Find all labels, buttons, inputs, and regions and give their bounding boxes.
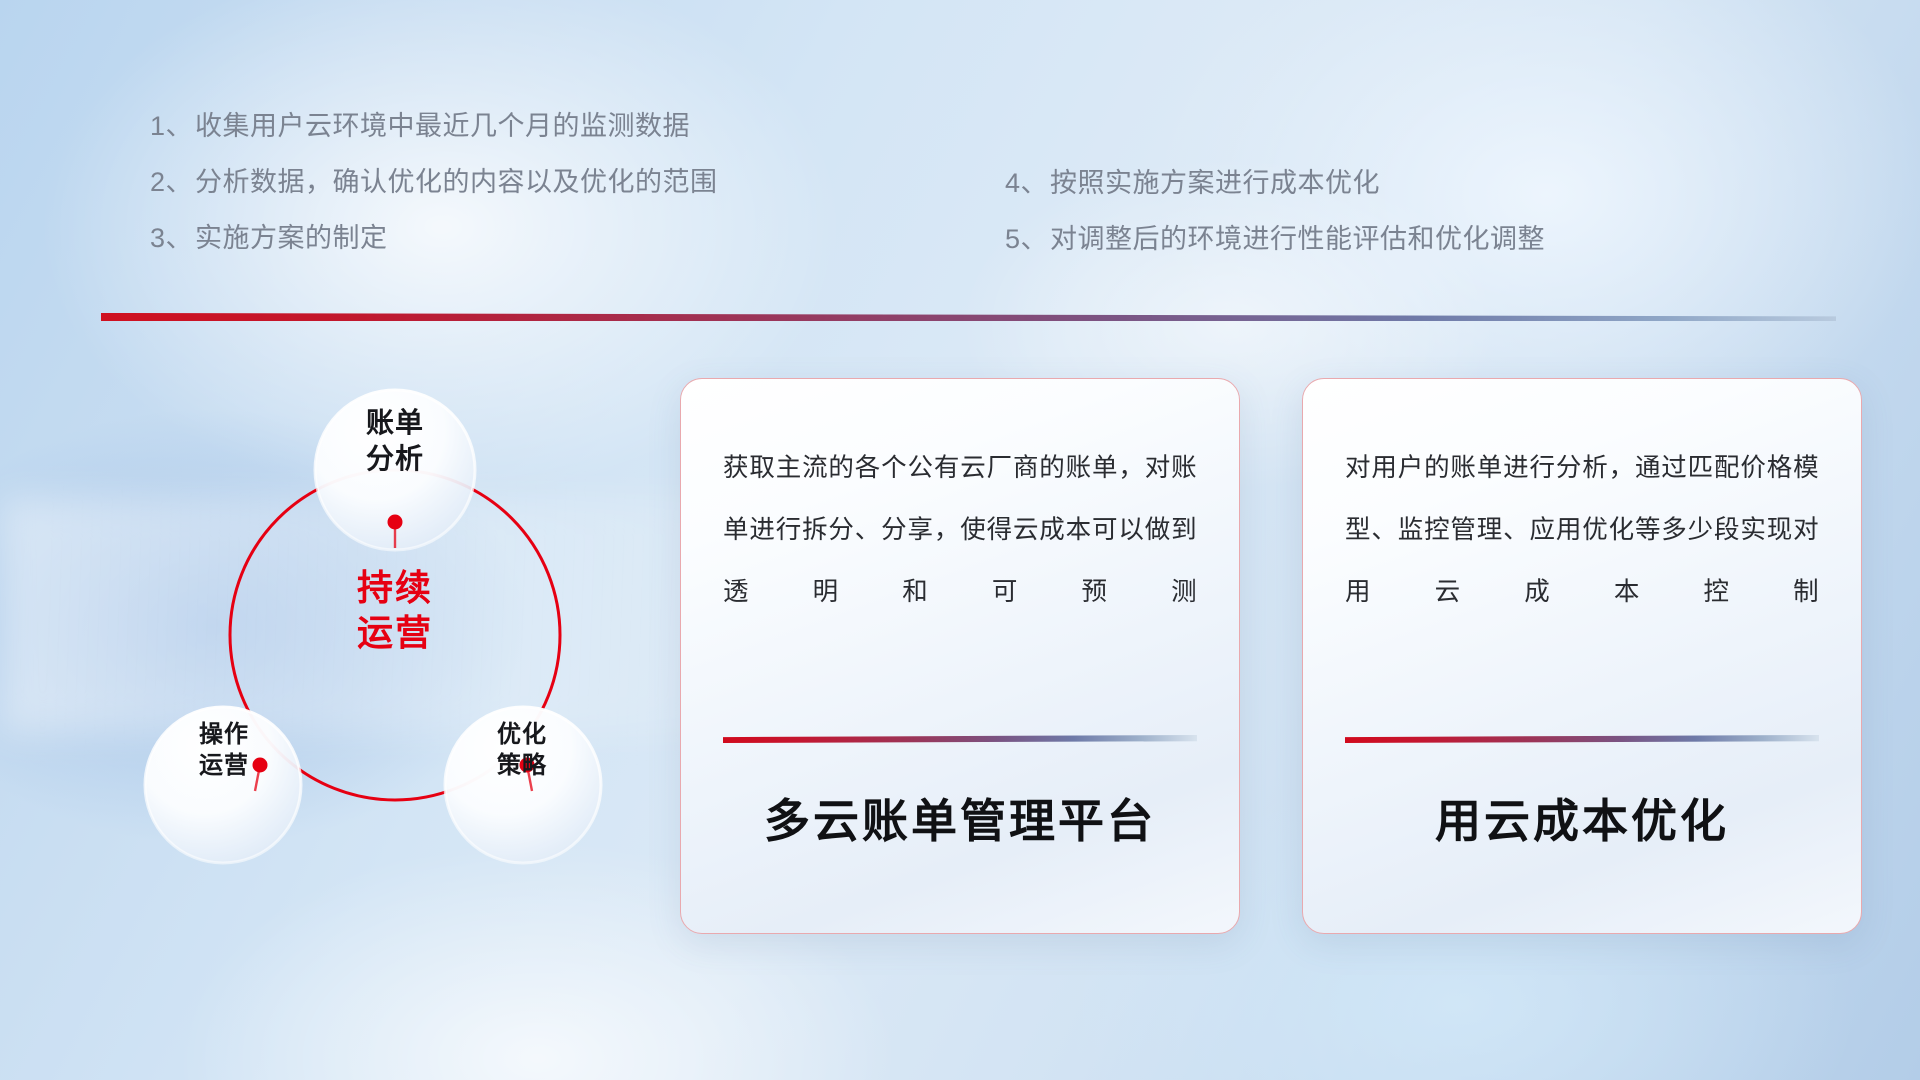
bubble-label-operation: 操作 运营 [149, 720, 299, 781]
section-divider-bar [101, 313, 1836, 321]
card-title: 多云账单管理平台 [681, 785, 1239, 851]
card-divider [1345, 735, 1819, 743]
step-number: 5、 [1005, 211, 1048, 267]
diagram-center-label: 持续 运营 [310, 565, 480, 655]
card-multi-cloud-bill-platform[interactable]: 获取主流的各个公有云厂商的账单，对账单进行拆分、分享，使得云成本可以做到透明和可… [680, 378, 1240, 934]
step-item: 5、 对调整后的环境进行性能评估和优化调整 [1005, 211, 1545, 267]
step-item: 4、 按照实施方案进行成本优化 [1005, 155, 1545, 211]
step-text: 对调整后的环境进行性能评估和优化调整 [1050, 211, 1545, 267]
step-item: 3、 实施方案的制定 [150, 210, 718, 266]
step-text: 实施方案的制定 [195, 210, 388, 266]
continuous-operation-diagram: 账单 分析 操作 运营 优化 策略 持续 运营 [95, 350, 655, 940]
step-item: 1、 收集用户云环境中最近几个月的监测数据 [150, 98, 718, 154]
bubble-label-bill-analysis: 账单 分析 [310, 405, 480, 477]
step-text: 按照实施方案进行成本优化 [1050, 155, 1380, 211]
step-number: 3、 [150, 210, 193, 266]
step-text: 收集用户云环境中最近几个月的监测数据 [195, 98, 690, 154]
section-divider [101, 313, 1836, 321]
step-item: 2、 分析数据，确认优化的内容以及优化的范围 [150, 154, 718, 210]
card-divider [723, 735, 1197, 743]
steps-right-column: 4、 按照实施方案进行成本优化 5、 对调整后的环境进行性能评估和优化调整 [1005, 155, 1545, 267]
steps-left-column: 1、 收集用户云环境中最近几个月的监测数据 2、 分析数据，确认优化的内容以及优… [150, 98, 718, 266]
card-body-text: 对用户的账单进行分析，通过匹配价格模型、监控管理、应用优化等多少段实现对用云成本… [1345, 437, 1819, 623]
card-title: 用云成本优化 [1303, 785, 1861, 851]
step-number: 4、 [1005, 155, 1048, 211]
card-divider-bar [1345, 735, 1819, 743]
bubble-label-optimize-strategy: 优化 策略 [447, 720, 597, 781]
step-number: 2、 [150, 154, 193, 210]
cards-section: 获取主流的各个公有云厂商的账单，对账单进行拆分、分享，使得云成本可以做到透明和可… [680, 378, 1862, 934]
card-divider-bar [723, 735, 1197, 743]
card-body-text: 获取主流的各个公有云厂商的账单，对账单进行拆分、分享，使得云成本可以做到透明和可… [723, 437, 1197, 623]
card-cloud-cost-optimization[interactable]: 对用户的账单进行分析，通过匹配价格模型、监控管理、应用优化等多少段实现对用云成本… [1302, 378, 1862, 934]
step-text: 分析数据，确认优化的内容以及优化的范围 [195, 154, 718, 210]
step-number: 1、 [150, 98, 193, 154]
